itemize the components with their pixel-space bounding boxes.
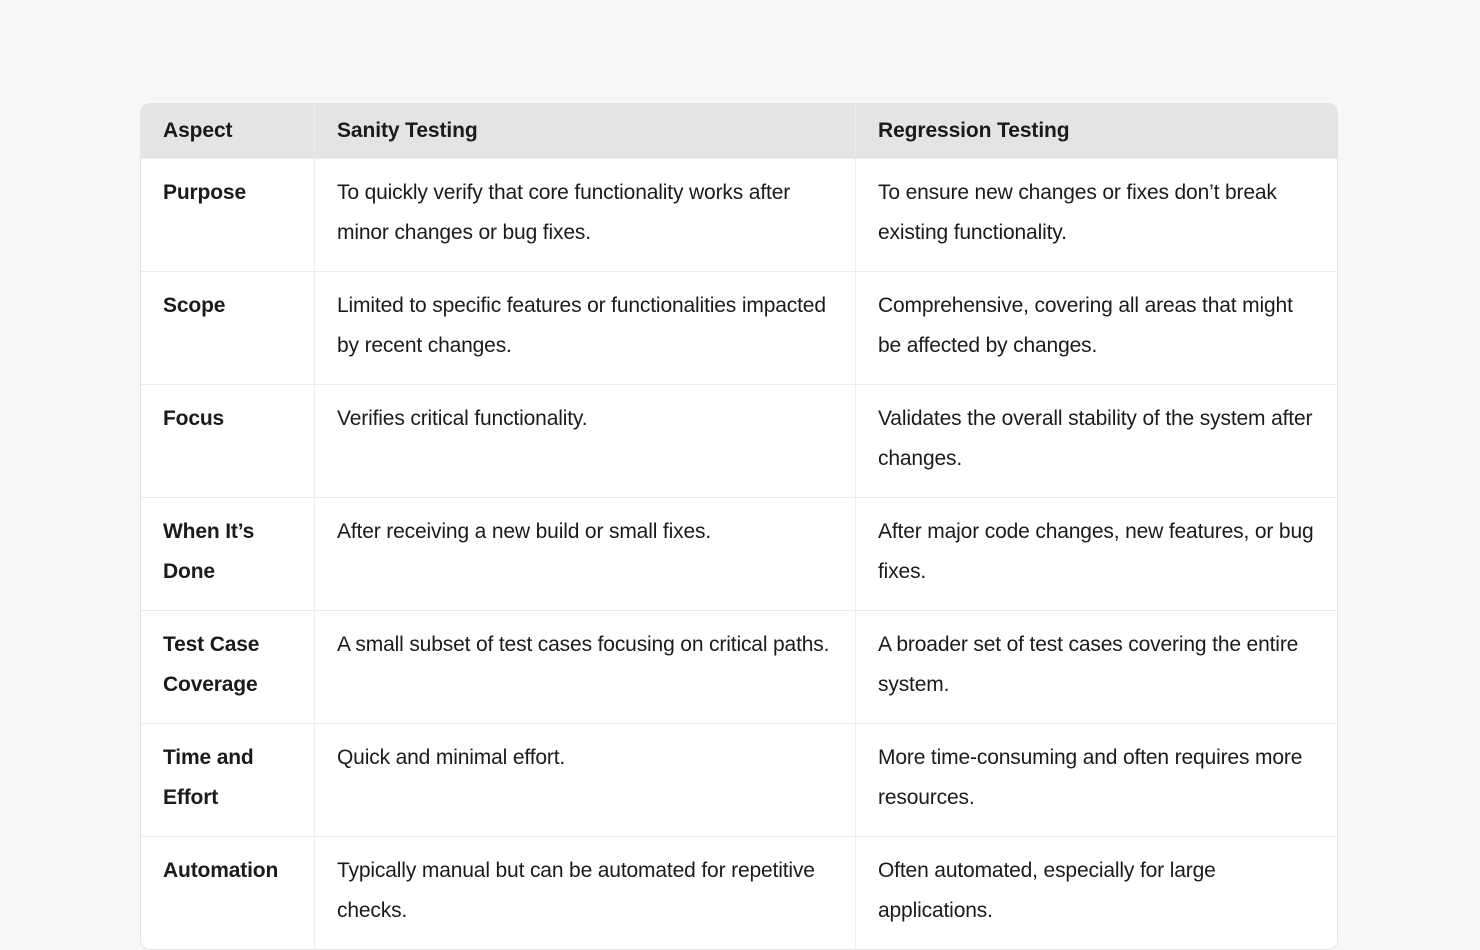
sanity-vs-regression-table: Aspect Sanity Testing Regression Testing… <box>140 103 1338 950</box>
column-header-regression-testing: Regression Testing <box>856 104 1337 159</box>
cell-regression: Validates the overall stability of the s… <box>856 385 1337 498</box>
table-row: Test Case Coverage A small subset of tes… <box>141 611 1337 724</box>
column-header-sanity-testing: Sanity Testing <box>315 104 856 159</box>
table-body: Purpose To quickly verify that core func… <box>141 159 1337 949</box>
cell-regression: Comprehensive, covering all areas that m… <box>856 272 1337 385</box>
comparison-table-container: Aspect Sanity Testing Regression Testing… <box>140 103 1336 950</box>
table-header: Aspect Sanity Testing Regression Testing <box>141 104 1337 159</box>
cell-sanity: Quick and minimal effort. <box>315 724 856 837</box>
table-row: When It’s Done After receiving a new bui… <box>141 498 1337 611</box>
table-row: Focus Verifies critical functionality. V… <box>141 385 1337 498</box>
cell-aspect: When It’s Done <box>141 498 315 611</box>
cell-sanity: A small subset of test cases focusing on… <box>315 611 856 724</box>
cell-aspect: Purpose <box>141 159 315 272</box>
cell-regression: Often automated, especially for large ap… <box>856 837 1337 949</box>
table-row: Scope Limited to specific features or fu… <box>141 272 1337 385</box>
cell-regression: After major code changes, new features, … <box>856 498 1337 611</box>
cell-sanity: After receiving a new build or small fix… <box>315 498 856 611</box>
cell-regression: To ensure new changes or fixes don’t bre… <box>856 159 1337 272</box>
column-header-aspect: Aspect <box>141 104 315 159</box>
cell-aspect: Time and Effort <box>141 724 315 837</box>
cell-regression: More time-consuming and often requires m… <box>856 724 1337 837</box>
cell-sanity: Verifies critical functionality. <box>315 385 856 498</box>
cell-sanity: To quickly verify that core functionalit… <box>315 159 856 272</box>
table-header-row: Aspect Sanity Testing Regression Testing <box>141 104 1337 159</box>
cell-sanity: Limited to specific features or function… <box>315 272 856 385</box>
page-root: Aspect Sanity Testing Regression Testing… <box>0 0 1480 932</box>
table-row: Purpose To quickly verify that core func… <box>141 159 1337 272</box>
cell-aspect: Automation <box>141 837 315 949</box>
cell-aspect: Test Case Coverage <box>141 611 315 724</box>
table-row: Automation Typically manual but can be a… <box>141 837 1337 949</box>
cell-aspect: Scope <box>141 272 315 385</box>
cell-regression: A broader set of test cases covering the… <box>856 611 1337 724</box>
table-row: Time and Effort Quick and minimal effort… <box>141 724 1337 837</box>
cell-sanity: Typically manual but can be automated fo… <box>315 837 856 949</box>
cell-aspect: Focus <box>141 385 315 498</box>
